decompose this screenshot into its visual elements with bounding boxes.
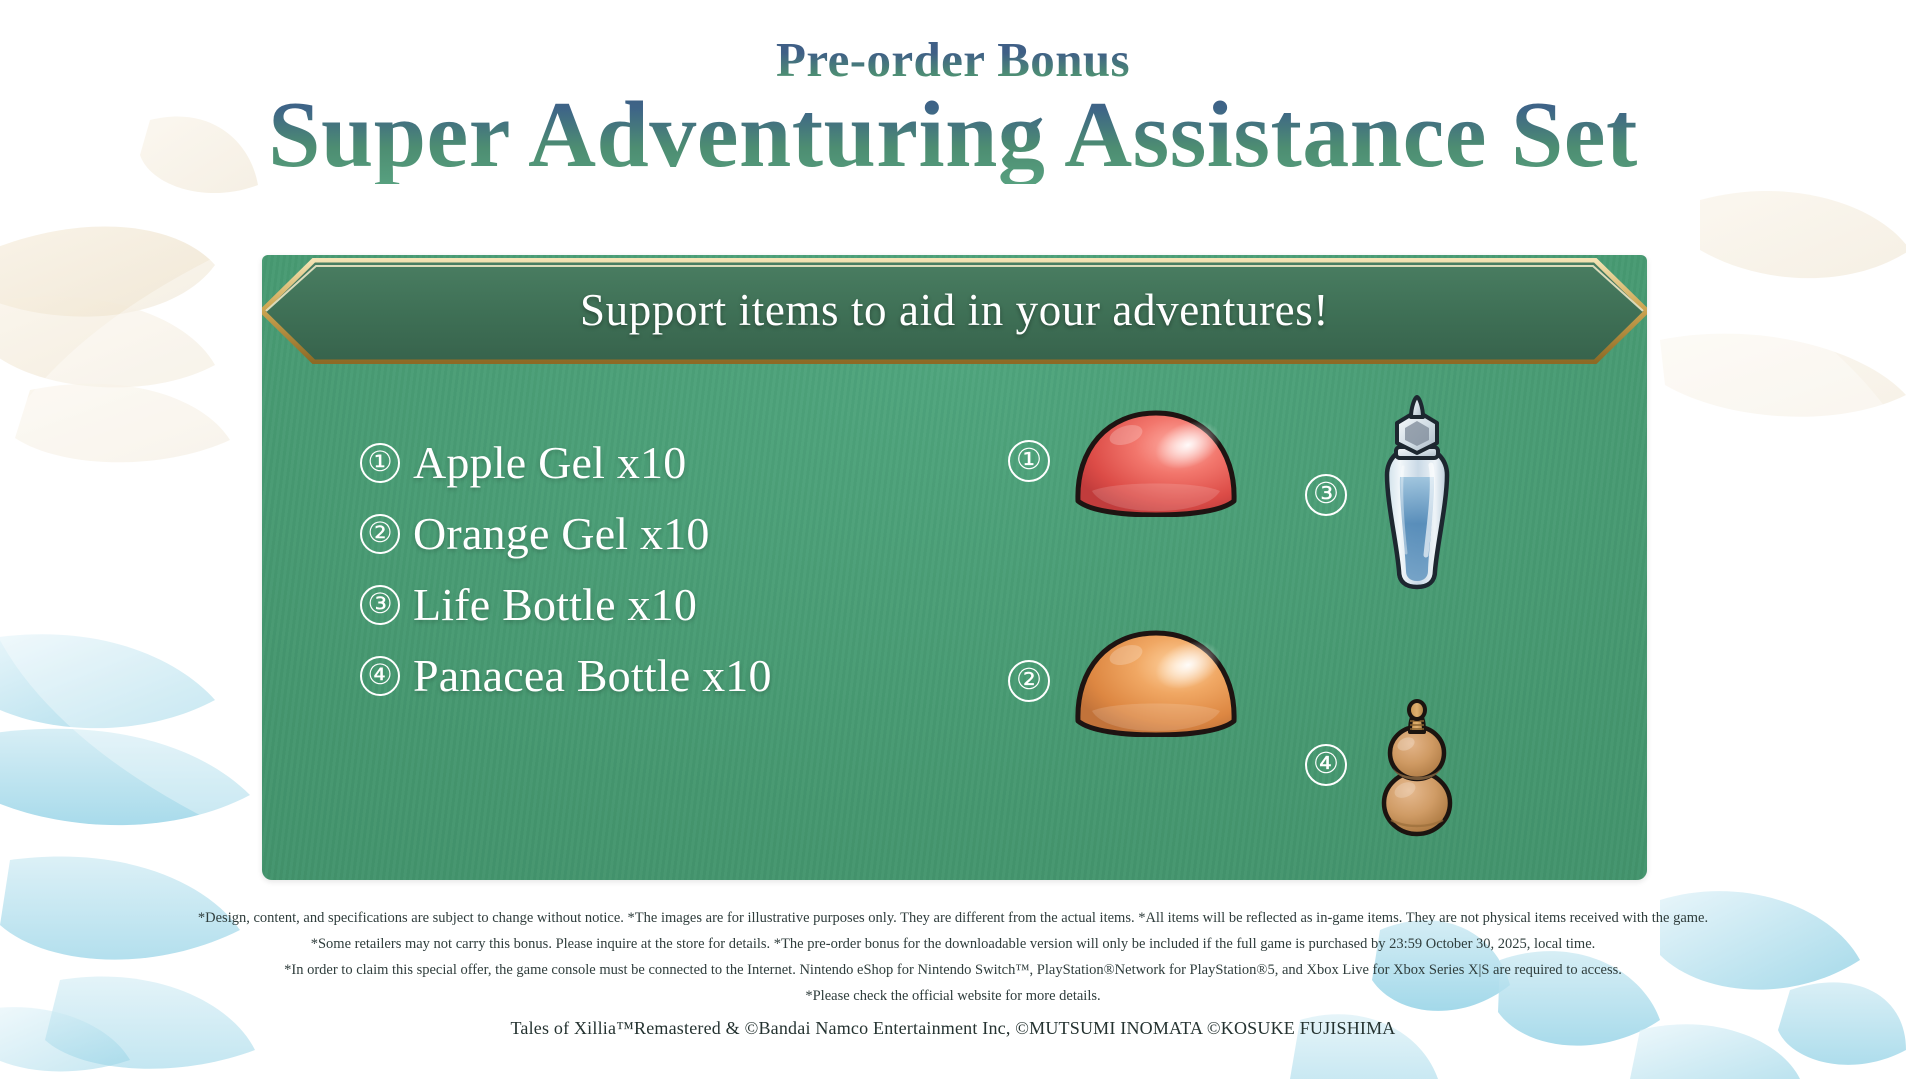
circled-number-icon: ② [360, 514, 400, 554]
item-label: Panacea Bottle x10 [413, 653, 772, 699]
circled-number-icon: ④ [1305, 744, 1347, 786]
item-label: Apple Gel x10 [413, 440, 686, 486]
banner-text: Support items to aid in your adventures! [262, 258, 1647, 364]
page-heading: Pre-order Bonus Super Adventuring Assist… [0, 34, 1906, 184]
circled-number-icon: ① [360, 443, 400, 483]
banner-ribbon: Support items to aid in your adventures! [262, 258, 1647, 364]
list-item: ④ Panacea Bottle x10 [360, 653, 772, 699]
kicker-text: Pre-order Bonus [0, 34, 1906, 86]
list-item: ② Orange Gel x10 [360, 511, 772, 557]
circled-number-icon: ③ [360, 585, 400, 625]
circled-number-icon: ① [1008, 440, 1050, 482]
page-title: Super Adventuring Assistance Set [0, 88, 1906, 184]
circled-number-icon: ④ [360, 656, 400, 696]
orange-gel-icon [1072, 625, 1240, 737]
red-gel-icon [1072, 405, 1240, 517]
life-bottle-artwork: ③ [1305, 395, 1465, 595]
gourd-bottle-icon [1369, 690, 1465, 840]
preorder-bonus-page: Pre-order Bonus Super Adventuring Assist… [0, 0, 1906, 1079]
item-list: ① Apple Gel x10 ② Orange Gel x10 ③ Life … [360, 440, 772, 699]
item-label: Life Bottle x10 [413, 582, 697, 628]
list-item: ③ Life Bottle x10 [360, 582, 772, 628]
circled-number-icon: ③ [1305, 474, 1347, 516]
footnote-line: *Some retailers may not carry this bonus… [0, 931, 1906, 957]
circled-number-icon: ② [1008, 660, 1050, 702]
orange-gel-artwork: ② [1008, 625, 1240, 737]
item-label: Orange Gel x10 [413, 511, 710, 557]
footnote-line: *Please check the official website for m… [0, 983, 1906, 1009]
footnotes: *Design, content, and specifications are… [0, 905, 1906, 1009]
blue-bottle-icon [1369, 395, 1465, 595]
apple-gel-artwork: ① [1008, 405, 1240, 517]
list-item: ① Apple Gel x10 [360, 440, 772, 486]
panacea-bottle-artwork: ④ [1305, 690, 1465, 840]
footnote-line: *In order to claim this special offer, t… [0, 957, 1906, 983]
copyright-notice: Tales of Xillia™Remastered & ©Bandai Nam… [0, 1018, 1906, 1039]
footnote-line: *Design, content, and specifications are… [0, 905, 1906, 931]
